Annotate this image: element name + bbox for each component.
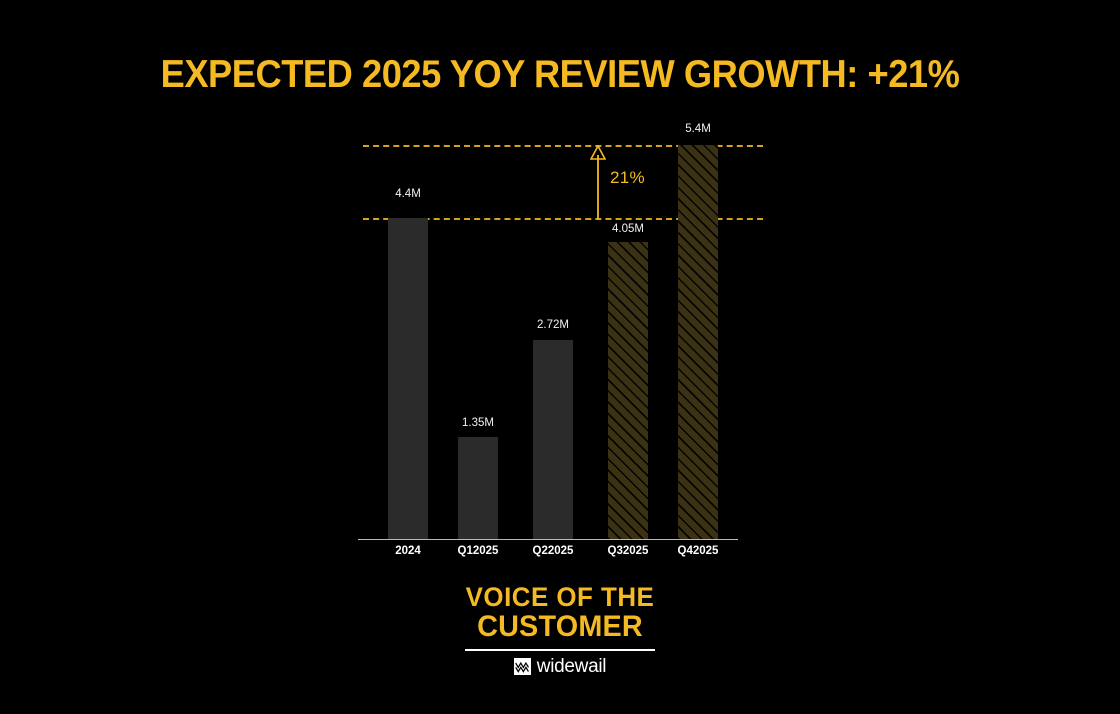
value-label-2024: 4.4M bbox=[378, 188, 438, 200]
bar-2024 bbox=[388, 218, 428, 539]
plot-area: 21% 4.4M 1.35M 2.72M 4.05M 5.4M 2024 Q12… bbox=[358, 120, 738, 540]
widewail-logo: widewail bbox=[0, 657, 1120, 676]
bar-q42025 bbox=[678, 145, 718, 539]
x-tick-q12025: Q12025 bbox=[448, 545, 508, 557]
widewail-wordmark: widewail bbox=[537, 657, 606, 676]
value-label-q12025: 1.35M bbox=[448, 417, 508, 429]
chart-canvas: EXPECTED 2025 YOY REVIEW GROWTH: +21% 21… bbox=[0, 0, 1120, 714]
footer-branding: VOICE OF THE CUSTOMER widewail bbox=[0, 583, 1120, 676]
x-tick-q32025: Q32025 bbox=[598, 545, 658, 557]
brand-line-2: CUSTOMER bbox=[22, 611, 1097, 642]
value-label-q22025: 2.72M bbox=[523, 319, 583, 331]
x-tick-q42025: Q42025 bbox=[668, 545, 728, 557]
value-label-q32025: 4.05M bbox=[598, 223, 658, 235]
x-tick-q22025: Q22025 bbox=[523, 545, 583, 557]
page-title: EXPECTED 2025 YOY REVIEW GROWTH: +21% bbox=[39, 52, 1081, 98]
value-label-q42025: 5.4M bbox=[668, 123, 728, 135]
x-axis-line bbox=[358, 539, 738, 540]
bar-q32025 bbox=[608, 242, 648, 539]
widewail-zigzag-icon bbox=[514, 658, 531, 675]
brand-line-1: VOICE OF THE bbox=[22, 583, 1097, 611]
bar-q12025 bbox=[458, 437, 498, 539]
growth-percent-label: 21% bbox=[610, 168, 645, 188]
up-arrow-icon bbox=[590, 145, 606, 219]
x-tick-2024: 2024 bbox=[378, 545, 438, 557]
bar-q22025 bbox=[533, 340, 573, 539]
brand-divider bbox=[465, 649, 655, 651]
